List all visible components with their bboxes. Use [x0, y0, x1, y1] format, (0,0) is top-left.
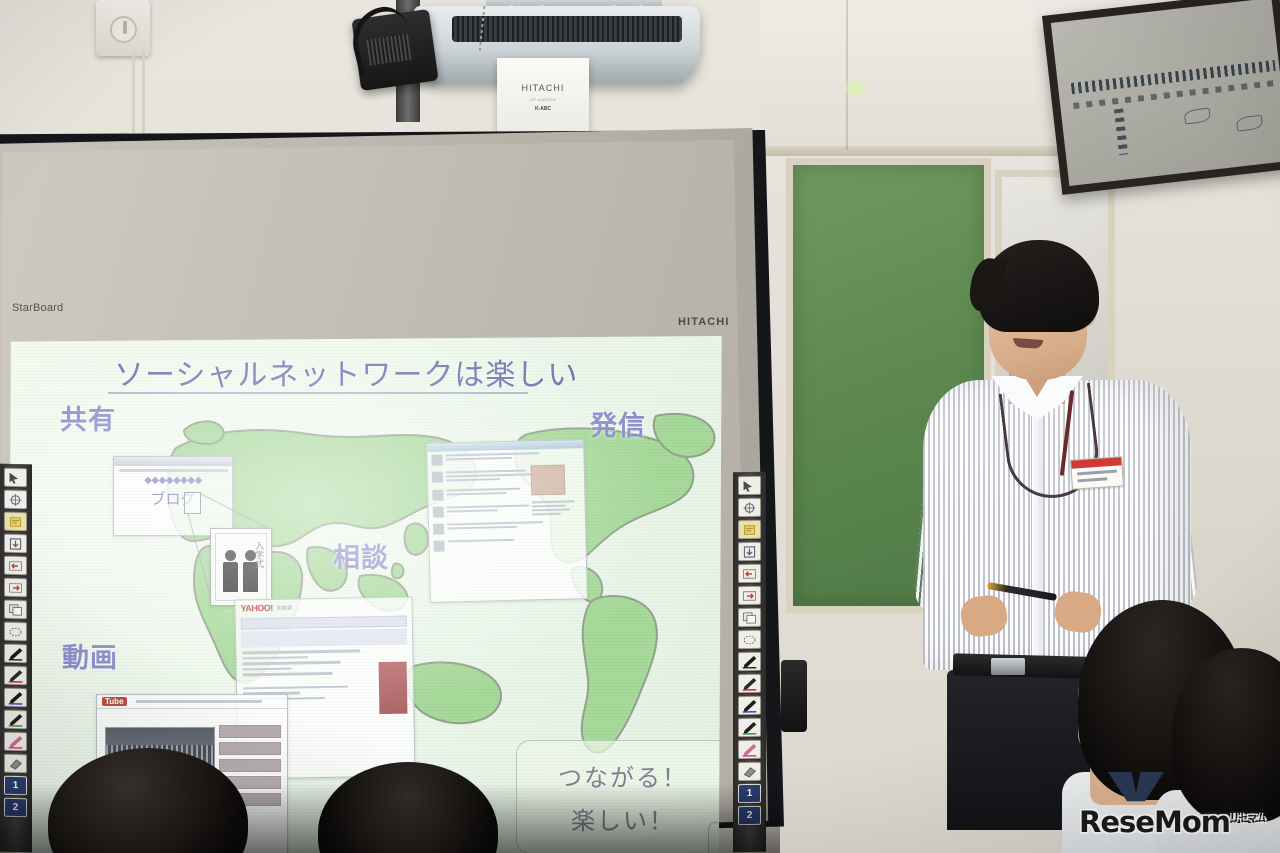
name-badge [1070, 456, 1124, 490]
pen-red-icon[interactable] [738, 674, 761, 693]
youtube-header: Tube [97, 695, 287, 709]
avatar [433, 541, 444, 552]
mouse-pointer-icon[interactable] [4, 490, 27, 509]
watermark-superscript: リセマム [1230, 814, 1266, 824]
pen-black-icon[interactable] [4, 644, 27, 663]
twitter-feed-thumbnail [426, 439, 588, 603]
hitachi-brand-label: HITACHI [678, 316, 730, 328]
figure-head [225, 550, 236, 561]
next-page-icon[interactable] [4, 578, 27, 597]
projector-label-card: HITACHI CP-AW250N K-ABC [497, 58, 589, 136]
starboard-brand-label: StarBoard [12, 302, 63, 314]
avatar [433, 524, 444, 535]
pen-green-icon[interactable] [4, 710, 27, 729]
youtube-nav-row [136, 700, 262, 703]
save-page-icon[interactable] [4, 534, 27, 553]
related-video-thumbnail [219, 742, 281, 755]
projector-vent-grille [452, 16, 682, 42]
resemom-watermark: ReseMomリセマム [1079, 805, 1266, 839]
entrance-ceremony-photo: 入学式 [210, 528, 272, 606]
sticky-note-icon[interactable] [738, 520, 761, 539]
leaf-motif-icon [1236, 115, 1263, 132]
belt-buckle [991, 658, 1025, 675]
photo-inner-frame: 入学式 [215, 533, 267, 601]
avatar [432, 472, 443, 483]
select-pointer-icon[interactable] [4, 468, 27, 487]
artwork-mat [1051, 0, 1280, 186]
leaf-motif-icon [1184, 107, 1211, 124]
projector-lens-glow [844, 82, 866, 96]
badge-name-line [1077, 470, 1117, 476]
sticky-note-icon[interactable] [4, 512, 27, 531]
projector-brand-label: HITACHI [521, 83, 564, 93]
pen-blue-icon[interactable] [4, 688, 27, 707]
select-pointer-icon[interactable] [738, 476, 761, 495]
feed-item [429, 534, 585, 555]
classroom-photo: HITACHI CP-AW250N K-ABC StarBoard HITACH… [0, 0, 1280, 853]
pen-tray [781, 660, 807, 732]
previous-page-icon[interactable] [738, 564, 761, 583]
interactive-whiteboard[interactable]: StarBoard HITACHI [0, 128, 784, 846]
watermark-text: ReseMom [1079, 805, 1230, 839]
feed-text [447, 520, 581, 531]
pen-green-icon[interactable] [738, 718, 761, 737]
yahoo-logo: YAHOO! [241, 603, 273, 614]
pen-red-icon[interactable] [4, 666, 27, 685]
yahoo-search-bar [241, 616, 407, 630]
framed-artwork [1042, 0, 1280, 195]
previous-page-icon[interactable] [4, 556, 27, 575]
related-video-thumbnail [219, 759, 281, 772]
wall-control-unit[interactable] [96, 0, 150, 56]
copy-page-icon[interactable] [4, 600, 27, 619]
save-page-icon[interactable] [738, 542, 761, 561]
figure-body [223, 562, 238, 592]
lasso-select-icon[interactable] [738, 630, 761, 649]
projector-room-label: K-ABC [535, 106, 551, 112]
pen-pink-icon[interactable] [738, 740, 761, 759]
related-video-thumbnail [219, 725, 281, 738]
presenter-hair [979, 240, 1099, 332]
pen-blue-icon[interactable] [738, 696, 761, 715]
artwork-calligraphy [1114, 109, 1128, 156]
lasso-select-icon[interactable] [4, 622, 27, 641]
yahoo-ad-banner [379, 662, 408, 714]
eraser-icon[interactable] [4, 754, 27, 773]
avatar [432, 490, 443, 501]
avatar [433, 507, 444, 518]
badge-color-strip [1071, 457, 1121, 468]
badge-name-line [1077, 477, 1107, 482]
eraser-icon[interactable] [738, 762, 761, 781]
sidebar-thumbnail [531, 465, 566, 496]
twitter-sidebar [531, 458, 580, 517]
projector-model-label: CP-AW250N [530, 97, 556, 102]
next-page-icon[interactable] [738, 586, 761, 605]
pen-pink-icon[interactable] [4, 732, 27, 751]
student-figure [223, 550, 238, 592]
youtube-logo-tube: Tube [102, 697, 127, 706]
wall-seam [846, 0, 848, 150]
photo-caption: 入学式 [253, 541, 262, 568]
yahoo-header: YAHOO! 知恵袋 [235, 597, 411, 616]
control-dial-icon[interactable] [110, 16, 137, 43]
youtube-logo: Tube [102, 697, 127, 706]
pen-black-icon[interactable] [738, 652, 761, 671]
avatar [431, 455, 442, 466]
mouse-pointer-icon[interactable] [738, 498, 761, 517]
yahoo-service-name: 知恵袋 [277, 604, 292, 611]
feed-text [447, 537, 581, 544]
copy-page-icon[interactable] [738, 608, 761, 627]
